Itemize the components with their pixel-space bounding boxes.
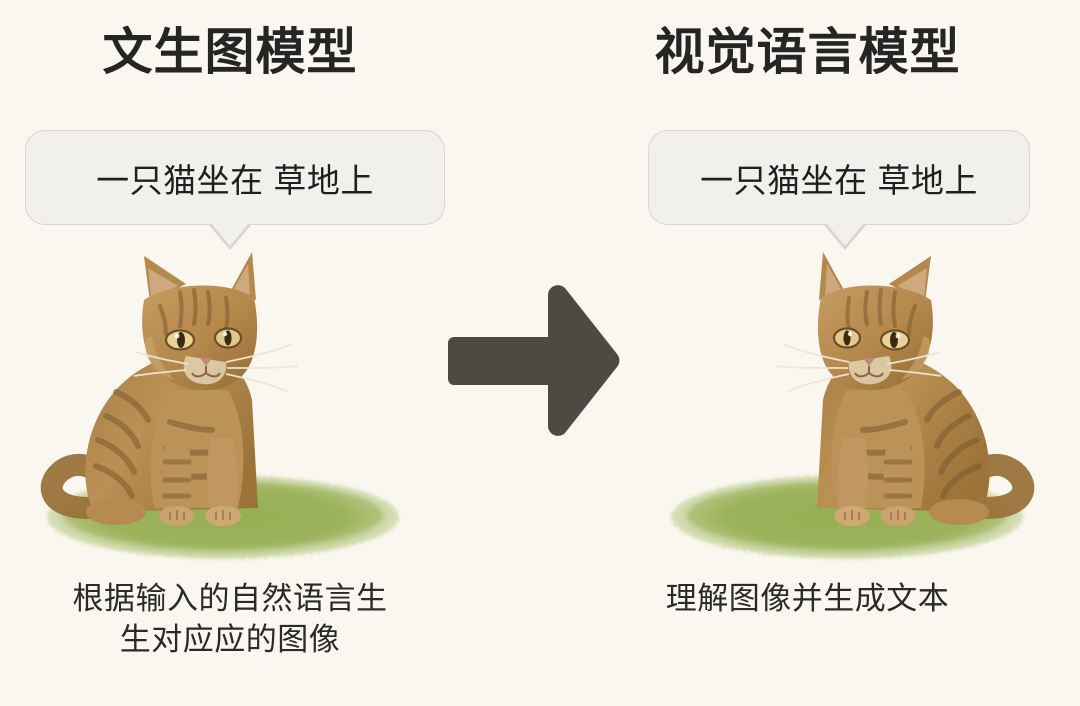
speech-bubble-text-left: 一只猫坐在 草地上 [96,154,374,202]
panel-caption-right: 理解图像并生成文本 [550,578,1065,619]
speech-bubble-right: 一只猫坐在 草地上 [648,130,1030,225]
speech-bubble-text-right: 一只猫坐在 草地上 [700,154,978,202]
panel-title-right: 视觉语言模型 [550,24,1065,82]
panel-title-left: 文生图模型 [0,24,480,82]
panel-vision-language: 视觉语言模型 一只猫坐在 草地上 [565,0,1080,706]
caption-line: 根据输入的自然语言生 [0,578,480,619]
panel-caption-left: 根据输入的自然语言生 生对应应的图像 [0,578,480,660]
speech-bubble-body-left: 一只猫坐在 草地上 [25,130,445,225]
cat-head-right [777,252,941,392]
cat-head-left [134,252,298,392]
panel-text-to-image: 文生图模型 一只猫坐在 草地上 [0,0,500,706]
diagram-canvas: 文生图模型 一只猫坐在 草地上 [0,0,1080,706]
caption-line: 生对应应的图像 [0,619,480,660]
speech-bubble-body-right: 一只猫坐在 草地上 [648,130,1030,225]
cat-illustration-right [635,240,1055,570]
caption-line: 理解图像并生成文本 [550,578,1065,619]
speech-bubble-left: 一只猫坐在 草地上 [25,130,445,225]
cat-illustration-left [20,240,440,570]
